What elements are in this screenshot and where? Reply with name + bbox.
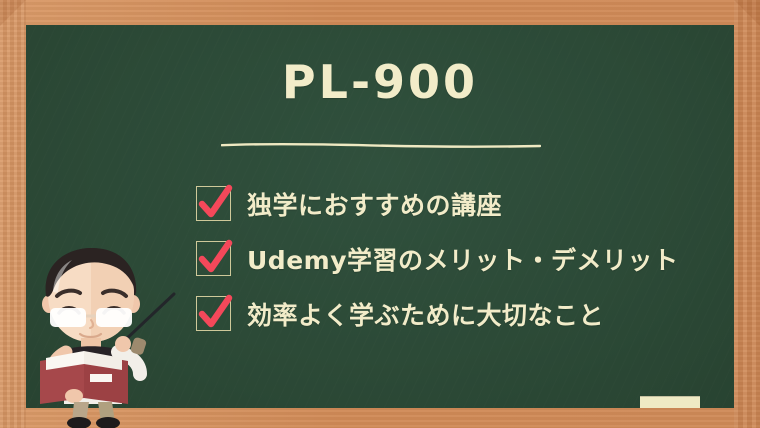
shoes (67, 417, 120, 428)
hand-on-book (65, 389, 83, 403)
book-icon (40, 351, 128, 404)
frame-grain-right (734, 0, 760, 428)
check-icon (195, 292, 235, 336)
check-icon (195, 237, 235, 281)
teacher-character-illustration (28, 246, 198, 428)
checklist: 独学におすすめの講座 Udemy学習のメリット・デメリット 効率よく学ぶために大… (196, 184, 716, 349)
checklist-item[interactable]: 独学におすすめの講座 (196, 184, 716, 223)
check-icon (195, 182, 235, 226)
checklist-item-label: 効率よく学ぶために大切なこと (247, 296, 604, 332)
checkbox[interactable] (196, 296, 231, 331)
frame-miter-top-right (734, 0, 760, 26)
chalk-underline-icon (221, 142, 541, 150)
frame-grain-left (0, 0, 26, 428)
checklist-item[interactable]: Udemy学習のメリット・デメリット (196, 239, 716, 278)
checklist-item-label: Udemy学習のメリット・デメリット (247, 241, 679, 277)
checklist-item-label: 独学におすすめの講座 (247, 186, 502, 222)
frame-miter-top-left (0, 0, 26, 26)
checklist-item[interactable]: 効率よく学ぶために大切なこと (196, 294, 716, 333)
checkbox[interactable] (196, 186, 231, 221)
slide-chalkboard: PL-900 独学におすすめの講座 Udemy学習のメリット・デメリット (0, 0, 760, 428)
checkbox[interactable] (196, 241, 231, 276)
chalk-stick-icon (640, 396, 700, 408)
